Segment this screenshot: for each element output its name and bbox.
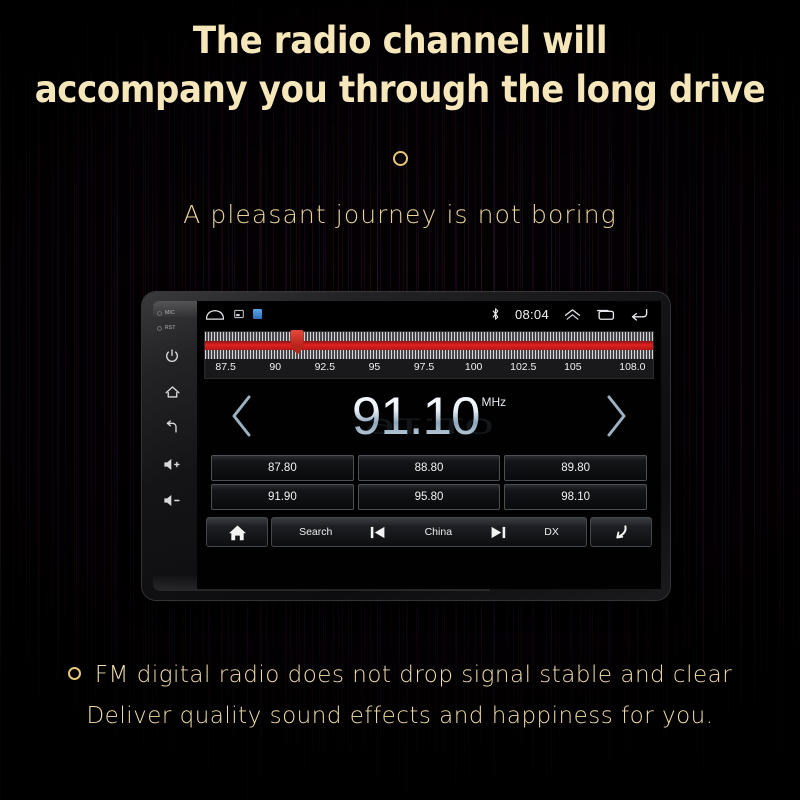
home-icon xyxy=(164,384,181,400)
skip-previous-icon xyxy=(370,525,386,540)
bluetooth-icon xyxy=(491,307,500,321)
preset-button[interactable]: 98.10 xyxy=(504,484,647,510)
mic-dot-icon xyxy=(157,311,162,316)
dial-tick-label: 92.5 xyxy=(315,361,335,373)
bottom-toolbar: Search China DX xyxy=(206,517,652,547)
circle-outline-icon xyxy=(393,151,408,166)
status-bar: 08:04 xyxy=(197,301,661,327)
mic-label: MIC xyxy=(165,310,175,316)
dial-tick-label: 87.5 xyxy=(215,361,235,373)
volume-up-key[interactable] xyxy=(159,453,185,475)
reset-dot-icon xyxy=(157,326,162,331)
blue-app-icon[interactable] xyxy=(253,309,262,319)
bottom-copy-text-1: FM digital radio does not drop signal st… xyxy=(95,662,732,688)
screenshot-icon[interactable] xyxy=(234,309,244,319)
subtitle: A pleasant journey is not boring xyxy=(0,200,800,229)
volume-down-icon xyxy=(163,493,181,508)
car-head-unit: MIC RST xyxy=(142,292,670,600)
preset-button[interactable]: 87.80 xyxy=(211,455,354,481)
dial-tick-label: 90 xyxy=(269,361,281,373)
power-icon xyxy=(164,348,180,364)
volume-up-icon xyxy=(163,457,181,472)
preset-button[interactable]: 88.80 xyxy=(358,455,501,481)
recents-icon[interactable] xyxy=(596,308,615,321)
home-filled-icon xyxy=(228,524,247,541)
skip-next-button[interactable] xyxy=(490,525,506,540)
back-key[interactable] xyxy=(159,417,185,439)
toolbar-back-button[interactable] xyxy=(590,517,652,547)
chevron-up-double-icon[interactable] xyxy=(564,308,581,321)
dial-tick-label: 97.5 xyxy=(414,361,434,373)
frequency-display-row: 91.10 MHz 91.10 xyxy=(197,379,661,453)
reset-button[interactable]: RST xyxy=(151,325,193,331)
preset-button[interactable]: 95.80 xyxy=(358,484,501,510)
headline-line-2: accompany you through the long drive xyxy=(32,65,768,114)
dial-pointer[interactable] xyxy=(291,330,304,356)
headline: The radio channel will accompany you thr… xyxy=(32,16,768,114)
dial-red-band xyxy=(205,341,653,350)
home-key[interactable] xyxy=(159,381,185,403)
chevron-left-icon[interactable] xyxy=(227,393,257,439)
preset-grid: 87.8088.8089.8091.9095.8098.10 xyxy=(211,455,647,510)
preset-button[interactable]: 91.90 xyxy=(211,484,354,510)
hardware-key-column: MIC RST xyxy=(151,301,193,589)
bottom-copy: FM digital radio does not drop signal st… xyxy=(0,655,800,737)
headline-line-1: The radio channel will xyxy=(32,16,768,65)
search-button[interactable]: Search xyxy=(299,526,332,538)
power-button[interactable] xyxy=(159,345,185,367)
chevron-right-icon[interactable] xyxy=(601,393,631,439)
dx-button[interactable]: DX xyxy=(544,526,559,538)
back-arrow-icon[interactable] xyxy=(630,307,649,321)
reset-label: RST xyxy=(165,325,176,331)
bottom-copy-line-2: Deliver quality sound effects and happin… xyxy=(0,696,800,737)
back-icon xyxy=(164,420,180,436)
dial-ticks-bottom xyxy=(205,350,653,359)
region-button[interactable]: China xyxy=(425,526,452,538)
undo-arrow-icon xyxy=(612,524,631,541)
dial-tick-label: 95 xyxy=(369,361,381,373)
skip-previous-button[interactable] xyxy=(370,525,386,540)
dial-tick-label: 100 xyxy=(465,361,483,373)
dial-tick-labels: 87.59092.59597.5100102.5105108.0 xyxy=(205,359,653,378)
dial-tick-label: 108.0 xyxy=(619,361,645,373)
skip-next-icon xyxy=(490,525,506,540)
mic-indicator: MIC xyxy=(151,310,193,316)
toolbar-home-button[interactable] xyxy=(206,517,268,547)
preset-button[interactable]: 89.80 xyxy=(504,455,647,481)
touchscreen: 08:04 xyxy=(197,301,661,589)
tuning-dial[interactable]: 87.59092.59597.5100102.5105108.0 xyxy=(204,331,654,379)
status-clock: 08:04 xyxy=(515,307,549,322)
android-home-outline-icon[interactable] xyxy=(205,308,225,321)
promo-page: The radio channel will accompany you thr… xyxy=(0,0,800,800)
volume-down-key[interactable] xyxy=(159,489,185,511)
toolbar-middle-group: Search China DX xyxy=(271,517,587,547)
circle-outline-icon xyxy=(68,667,81,680)
dial-tick-label: 105 xyxy=(564,361,582,373)
dial-ticks-top xyxy=(205,332,653,341)
bottom-copy-line-1: FM digital radio does not drop signal st… xyxy=(0,655,800,696)
frequency-unit: MHz xyxy=(481,395,506,409)
dial-tick-label: 102.5 xyxy=(510,361,536,373)
frequency-value: 91.10 xyxy=(352,390,480,443)
